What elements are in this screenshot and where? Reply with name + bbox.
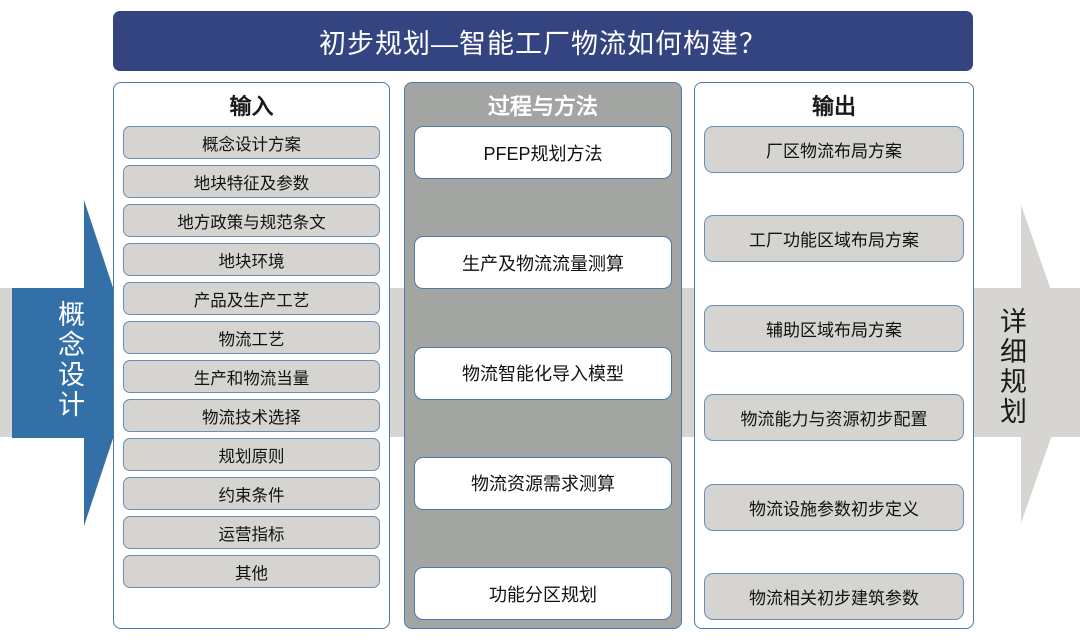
list-item[interactable]: 物流相关初步建筑参数 xyxy=(704,573,964,620)
list-item[interactable]: 地块环境 xyxy=(123,243,380,276)
list-item[interactable]: 规划原则 xyxy=(123,438,380,471)
process-column-title: 过程与方法 xyxy=(414,90,672,126)
process-item-list: PFEP规划方法 生产及物流流量测算 物流智能化导入模型 物流资源需求测算 功能… xyxy=(414,126,672,620)
input-column-title: 输入 xyxy=(123,90,380,126)
output-column: 输出 厂区物流布局方案 工厂功能区域布局方案 辅助区域布局方案 物流能力与资源初… xyxy=(694,82,974,629)
process-column: 过程与方法 PFEP规划方法 生产及物流流量测算 物流智能化导入模型 物流资源需… xyxy=(404,82,682,629)
list-item[interactable]: 物流技术选择 xyxy=(123,399,380,432)
list-item[interactable]: 概念设计方案 xyxy=(123,126,380,159)
list-item[interactable]: PFEP规划方法 xyxy=(414,126,672,179)
input-item-list: 概念设计方案 地块特征及参数 地方政策与规范条文 地块环境 产品及生产工艺 物流… xyxy=(123,126,380,620)
diagram-title-bar: 初步规划—智能工厂物流如何构建？ xyxy=(113,11,973,71)
list-item[interactable]: 地块特征及参数 xyxy=(123,165,380,198)
concept-design-arrow-label: 概念设计 xyxy=(46,270,86,450)
output-column-title: 输出 xyxy=(704,90,964,126)
list-item[interactable]: 生产和物流当量 xyxy=(123,360,380,393)
list-item[interactable]: 物流工艺 xyxy=(123,321,380,354)
list-item[interactable]: 物流智能化导入模型 xyxy=(414,347,672,400)
list-item[interactable]: 产品及生产工艺 xyxy=(123,282,380,315)
detailed-planning-arrow-label: 详细规划 xyxy=(988,272,1028,462)
list-item[interactable]: 工厂功能区域布局方案 xyxy=(704,215,964,262)
list-item[interactable]: 物流能力与资源初步配置 xyxy=(704,394,964,441)
output-item-list: 厂区物流布局方案 工厂功能区域布局方案 辅助区域布局方案 物流能力与资源初步配置… xyxy=(704,126,964,620)
list-item[interactable]: 运营指标 xyxy=(123,516,380,549)
list-item[interactable]: 厂区物流布局方案 xyxy=(704,126,964,173)
list-item[interactable]: 约束条件 xyxy=(123,477,380,510)
page-title: 初步规划—智能工厂物流如何构建？ xyxy=(319,22,767,61)
list-item[interactable]: 物流设施参数初步定义 xyxy=(704,484,964,531)
list-item[interactable]: 物流资源需求测算 xyxy=(414,457,672,510)
list-item[interactable]: 辅助区域布局方案 xyxy=(704,305,964,352)
list-item[interactable]: 生产及物流流量测算 xyxy=(414,236,672,289)
diagram-canvas: 概念设计 详细规划 初步规划—智能工厂物流如何构建？ 输入 概念设计方案 地块特… xyxy=(0,0,1080,640)
list-item[interactable]: 其他 xyxy=(123,555,380,588)
list-item[interactable]: 功能分区规划 xyxy=(414,567,672,620)
input-column: 输入 概念设计方案 地块特征及参数 地方政策与规范条文 地块环境 产品及生产工艺… xyxy=(113,82,390,629)
list-item[interactable]: 地方政策与规范条文 xyxy=(123,204,380,237)
